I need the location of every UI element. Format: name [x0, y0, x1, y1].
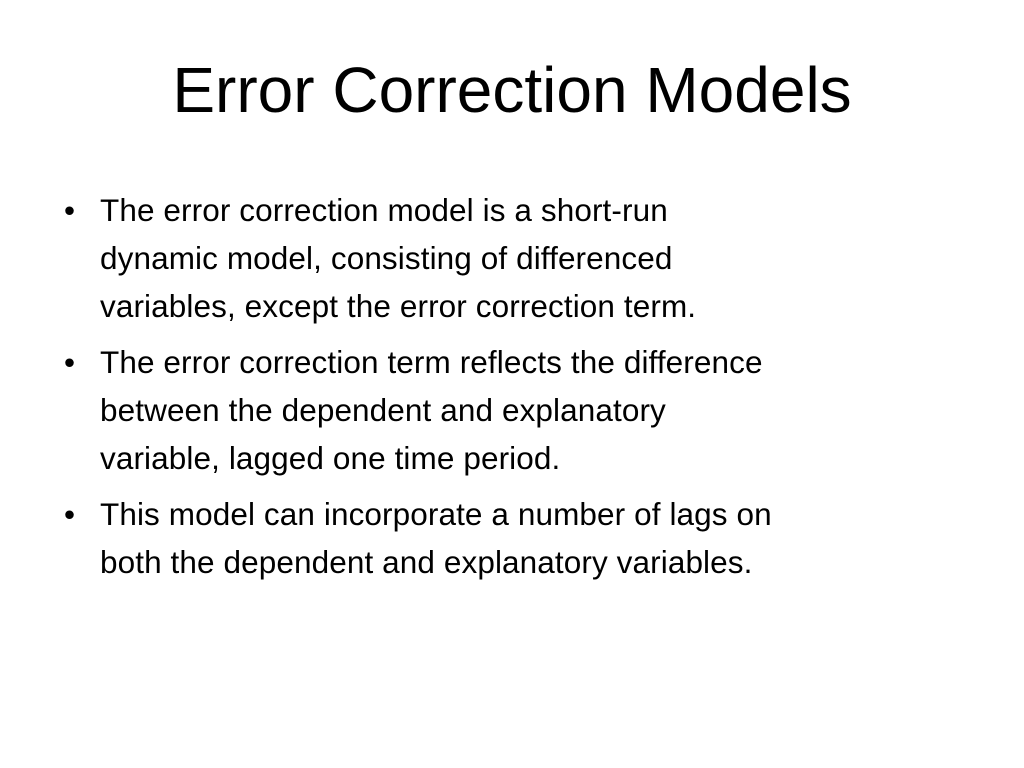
- list-item-text: The error correction term reflects the d…: [100, 338, 965, 482]
- list-item-text: This model can incorporate a number of l…: [100, 490, 965, 586]
- page-title: Error Correction Models: [0, 54, 1024, 126]
- list-item-text: The error correction model is a short-ru…: [100, 186, 965, 330]
- bullet-dot-icon: •: [64, 186, 84, 234]
- list-item: • The error correction term reflects the…: [60, 338, 965, 482]
- bullet-list: • The error correction model is a short-…: [60, 186, 965, 586]
- bullet-dot-icon: •: [64, 490, 84, 538]
- slide: Error Correction Models • The error corr…: [0, 0, 1024, 768]
- list-item: • The error correction model is a short-…: [60, 186, 965, 330]
- list-item: • This model can incorporate a number of…: [60, 490, 965, 586]
- bullet-dot-icon: •: [64, 338, 84, 386]
